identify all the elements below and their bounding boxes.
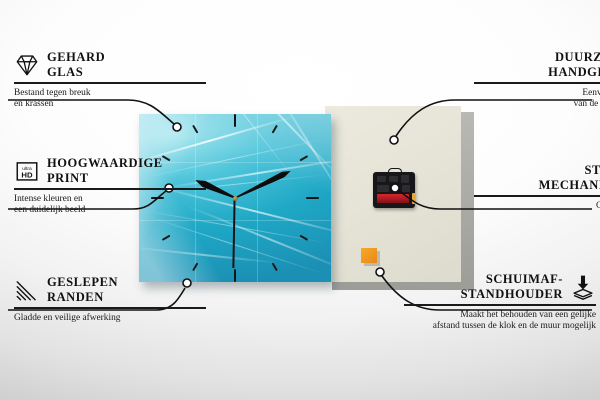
feature-title-line2: PRINT [47,171,163,186]
feature-header: DUURZAME HANDGREEP [474,50,600,79]
foam-spacer-icon [570,274,596,300]
feature-desc-line2: van de klok aan de muur [474,99,600,110]
feature-description: Bestand tegen breuk en krassen [14,88,206,111]
mechanism-vent [377,176,386,182]
mechanism-vent [402,185,410,192]
feature-gehard-glas[interactable]: GEHARD GLAS Bestand tegen breuk en krass… [14,50,206,110]
divider [474,82,600,84]
mechanism-vent [401,175,409,183]
feature-desc-line1: Gladde en veilige afwerking [14,313,206,324]
feature-header: SCHUIMAF- STANDHOUDER [404,272,596,301]
feature-title-line1: DUURZAME [548,50,600,65]
feature-title-line1: GESLEPEN [47,275,118,290]
diamond-icon [14,52,40,78]
divider [404,304,596,306]
feature-desc-line1: Geruisloze wijzers [474,201,600,212]
foam-spacer [361,248,377,263]
feature-title: DUURZAME HANDGREEP [548,50,600,79]
feature-desc-line2: afstand tussen de klok en de muur mogeli… [404,321,596,332]
clock-mechanism [373,168,415,208]
feature-description: Intense kleuren en een duidelijk beeld [14,194,206,217]
divider [474,195,600,197]
bevelled-edge-icon [14,277,40,303]
feature-title-line2: MECHANISME [539,178,600,193]
feature-desc-line1: Intense kleuren en [14,194,206,205]
feature-desc-line1: Bestand tegen breuk [14,88,206,99]
feature-title-line2: GLAS [47,65,105,80]
mechanism-body [373,172,415,208]
feature-title-line1: STILLE [539,163,600,178]
feature-duurzame-handgreep[interactable]: DUURZAME HANDGREEP Eenvoudige installati… [474,50,600,110]
feature-description: Maakt het behouden van een gelijke afsta… [404,310,596,333]
feature-desc-line2: een duidelijk beeld [14,205,206,216]
feature-description: Eenvoudige installatie van de klok aan d… [474,88,600,111]
feature-title-line1: HOOGWAARDIGE [47,156,163,171]
battery-terminal [412,193,416,204]
feature-title: SCHUIMAF- STANDHOUDER [461,272,563,301]
feature-description: Geruisloze wijzers van de klok [474,201,600,224]
feature-title-line1: GEHARD [47,50,105,65]
feature-header: GEHARD GLAS [14,50,206,79]
battery [377,194,409,203]
feature-desc-line1: Maakt het behouden van een gelijke [404,310,596,321]
feature-hoogwaardige-print[interactable]: ultra HD HOOGWAARDIGE PRINT Intense kleu… [14,156,206,216]
divider [14,188,206,190]
feature-header: GESLEPEN RANDEN [14,275,206,304]
divider [14,82,206,84]
clock-center-pin [233,196,238,201]
feature-description: Gladde en veilige afwerking [14,313,206,324]
feature-schuimafstandhouder[interactable]: SCHUIMAF- STANDHOUDER Maakt het behouden… [404,272,596,332]
feature-desc-line2: en krassen [14,99,206,110]
infographic-canvas: GEHARD GLAS Bestand tegen breuk en krass… [0,0,600,400]
divider [14,307,206,309]
feature-title: GESLEPEN RANDEN [47,275,118,304]
feature-title-line2: HANDGREEP [548,65,600,80]
feature-desc-line1: Eenvoudige installatie [474,88,600,99]
feature-title: GEHARD GLAS [47,50,105,79]
mechanism-vent [389,176,398,182]
feature-geslepen-randen[interactable]: GESLEPEN RANDEN Gladde en veilige afwerk… [14,275,206,324]
mechanism-vent [377,185,389,192]
clock-back-panel [325,106,461,282]
feature-title-line2: STANDHOUDER [461,287,563,302]
ultra-hd-icon: ultra HD [14,158,40,184]
feature-title: HOOGWAARDIGE PRINT [47,156,163,185]
feature-stille-mechanisme[interactable]: STILLE MECHANISME Geruisloze wijzers van… [474,163,600,223]
feature-title-line1: SCHUIMAF- [461,272,563,287]
feature-desc-line2: van de klok [474,212,600,223]
mechanism-dial [392,185,399,192]
svg-text:HD: HD [21,170,33,179]
feature-header: STILLE MECHANISME [474,163,600,192]
feature-title: STILLE MECHANISME [539,163,600,192]
feature-title-line2: RANDEN [47,290,118,305]
feature-header: ultra HD HOOGWAARDIGE PRINT [14,156,206,185]
